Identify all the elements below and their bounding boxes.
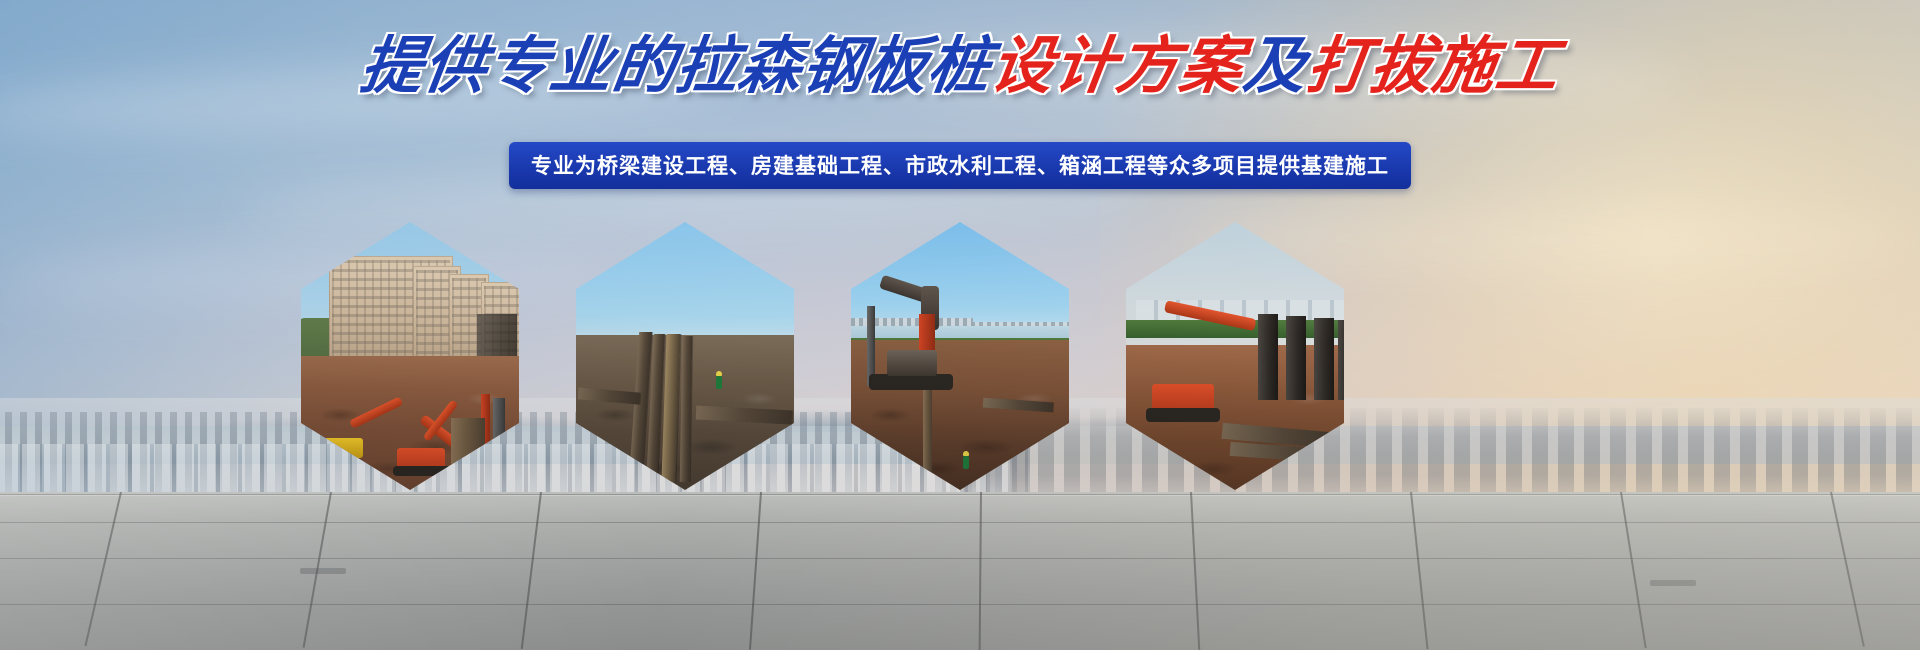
plaza-light-sheen [0, 492, 1920, 650]
headline-segment-1: 提供专业的拉森钢板桩 [357, 36, 996, 98]
headline-segment-2: 设计方案 [987, 36, 1248, 98]
subtitle-pill: 专业为桥梁建设工程、房建基础工程、市政水利工程、箱涵工程等众多项目提供基建施工 [509, 142, 1411, 189]
headline-segment-4: 打拔施工 [1302, 36, 1563, 98]
hero-banner: 2022-05-08 提供专业的拉森钢板桩设计方案及打拔施工 专业为桥梁建设工程… [0, 0, 1920, 650]
hexagon-photo-cluster: 2022-05-08 [0, 222, 1920, 490]
photo-datestamp: 2022-05-08 [1279, 468, 1336, 478]
hexagon-photo-1[interactable] [301, 222, 519, 490]
hexagon-photo-3[interactable] [851, 222, 1069, 490]
paved-plaza-foreground [0, 492, 1920, 650]
banner-subtitle-bar: 专业为桥梁建设工程、房建基础工程、市政水利工程、箱涵工程等众多项目提供基建施工 [0, 142, 1920, 189]
banner-headline: 提供专业的拉森钢板桩设计方案及打拔施工 [0, 36, 1920, 98]
hexagon-photo-2[interactable] [576, 222, 794, 490]
headline-segment-3: 及 [1239, 36, 1311, 98]
hexagon-photo-4[interactable]: 2022-05-08 [1126, 222, 1344, 490]
